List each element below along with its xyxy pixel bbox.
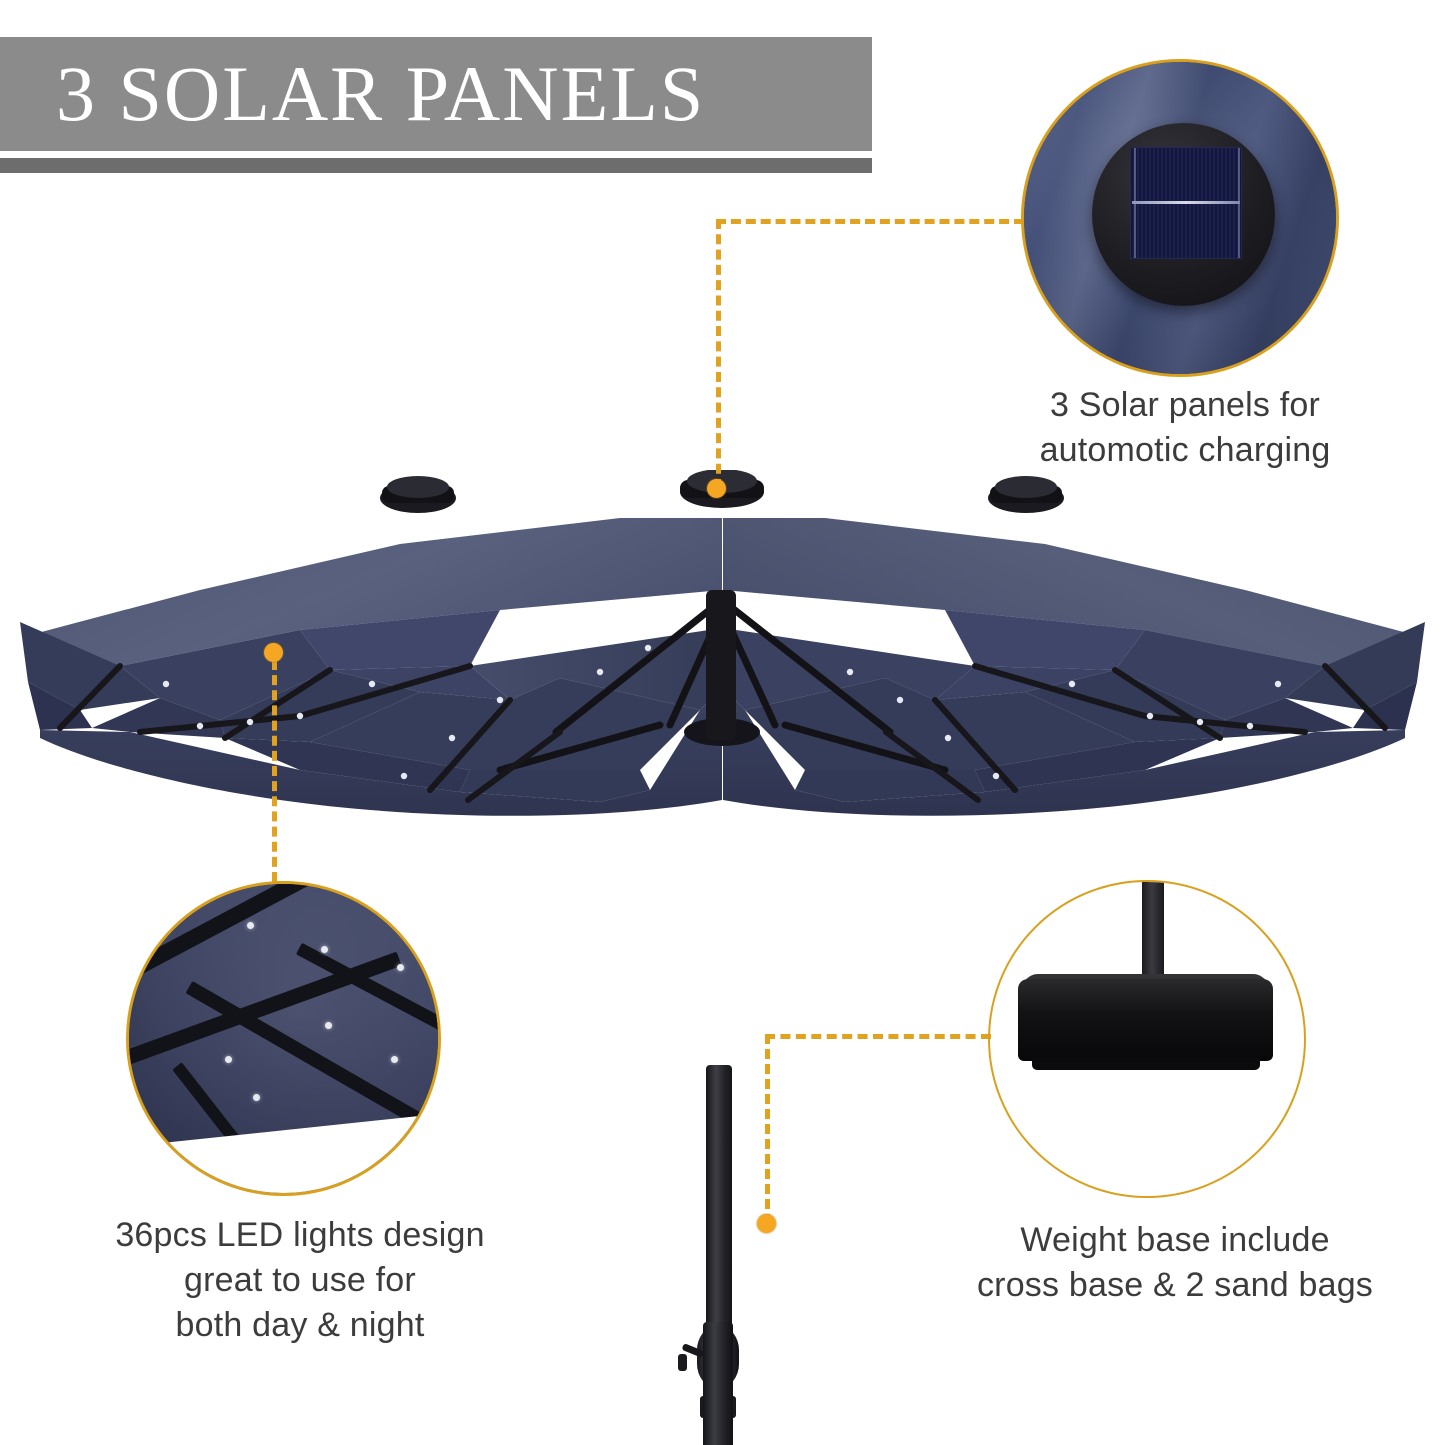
caption-led: 36pcs LED lights design great to use for… bbox=[45, 1213, 555, 1348]
caption-led-line2: great to use for bbox=[45, 1258, 555, 1303]
solar-panel-housing-left bbox=[380, 476, 456, 513]
callout-dot-solar bbox=[707, 479, 726, 498]
caption-solar: 3 Solar panels for automotic charging bbox=[960, 383, 1410, 473]
led-dot bbox=[391, 1056, 398, 1063]
connector-line-led-vertical bbox=[272, 660, 277, 882]
crank-handle-knob[interactable] bbox=[678, 1354, 687, 1371]
led-dot bbox=[225, 1056, 232, 1063]
callout-dot-base bbox=[757, 1214, 776, 1233]
weight-base-icon bbox=[988, 880, 1306, 1198]
cross-base-closeup bbox=[1032, 1058, 1260, 1070]
page-title: 3 SOLAR PANELS bbox=[0, 55, 705, 133]
caption-led-line1: 36pcs LED lights design bbox=[45, 1213, 555, 1258]
caption-solar-line1: 3 Solar panels for bbox=[960, 383, 1410, 428]
connector-line-base-vertical bbox=[765, 1034, 770, 1224]
led-dot bbox=[325, 1022, 332, 1029]
sandbag-body-closeup bbox=[1018, 979, 1273, 1061]
umbrella-pole-lower bbox=[703, 1322, 733, 1445]
header-banner: 3 SOLAR PANELS bbox=[0, 37, 872, 151]
caption-base-line2: cross base & 2 sand bags bbox=[930, 1263, 1420, 1308]
led-dot bbox=[253, 1094, 260, 1101]
header-accent-bar bbox=[0, 158, 872, 173]
umbrella-pole-upper bbox=[706, 1065, 732, 1355]
connector-line-solar-horizontal bbox=[716, 219, 1024, 224]
led-dot bbox=[321, 946, 328, 953]
led-dot bbox=[397, 964, 404, 971]
connector-line-solar-vertical bbox=[716, 219, 721, 489]
led-light-icon bbox=[126, 881, 441, 1196]
caption-led-line3: both day & night bbox=[45, 1303, 555, 1348]
caption-base-line1: Weight base include bbox=[930, 1218, 1420, 1263]
caption-base: Weight base include cross base & 2 sand … bbox=[930, 1218, 1420, 1308]
infographic-canvas: 3 SOLAR PANELS bbox=[0, 0, 1445, 1445]
solar-panel-housing-right bbox=[988, 476, 1064, 513]
solar-cell-busbar bbox=[1132, 201, 1240, 204]
solar-panel-icon bbox=[1021, 59, 1339, 377]
caption-solar-line2: automotic charging bbox=[960, 428, 1410, 473]
led-dot bbox=[247, 922, 254, 929]
connector-line-base-horizontal bbox=[765, 1034, 991, 1039]
callout-dot-led bbox=[264, 643, 283, 662]
